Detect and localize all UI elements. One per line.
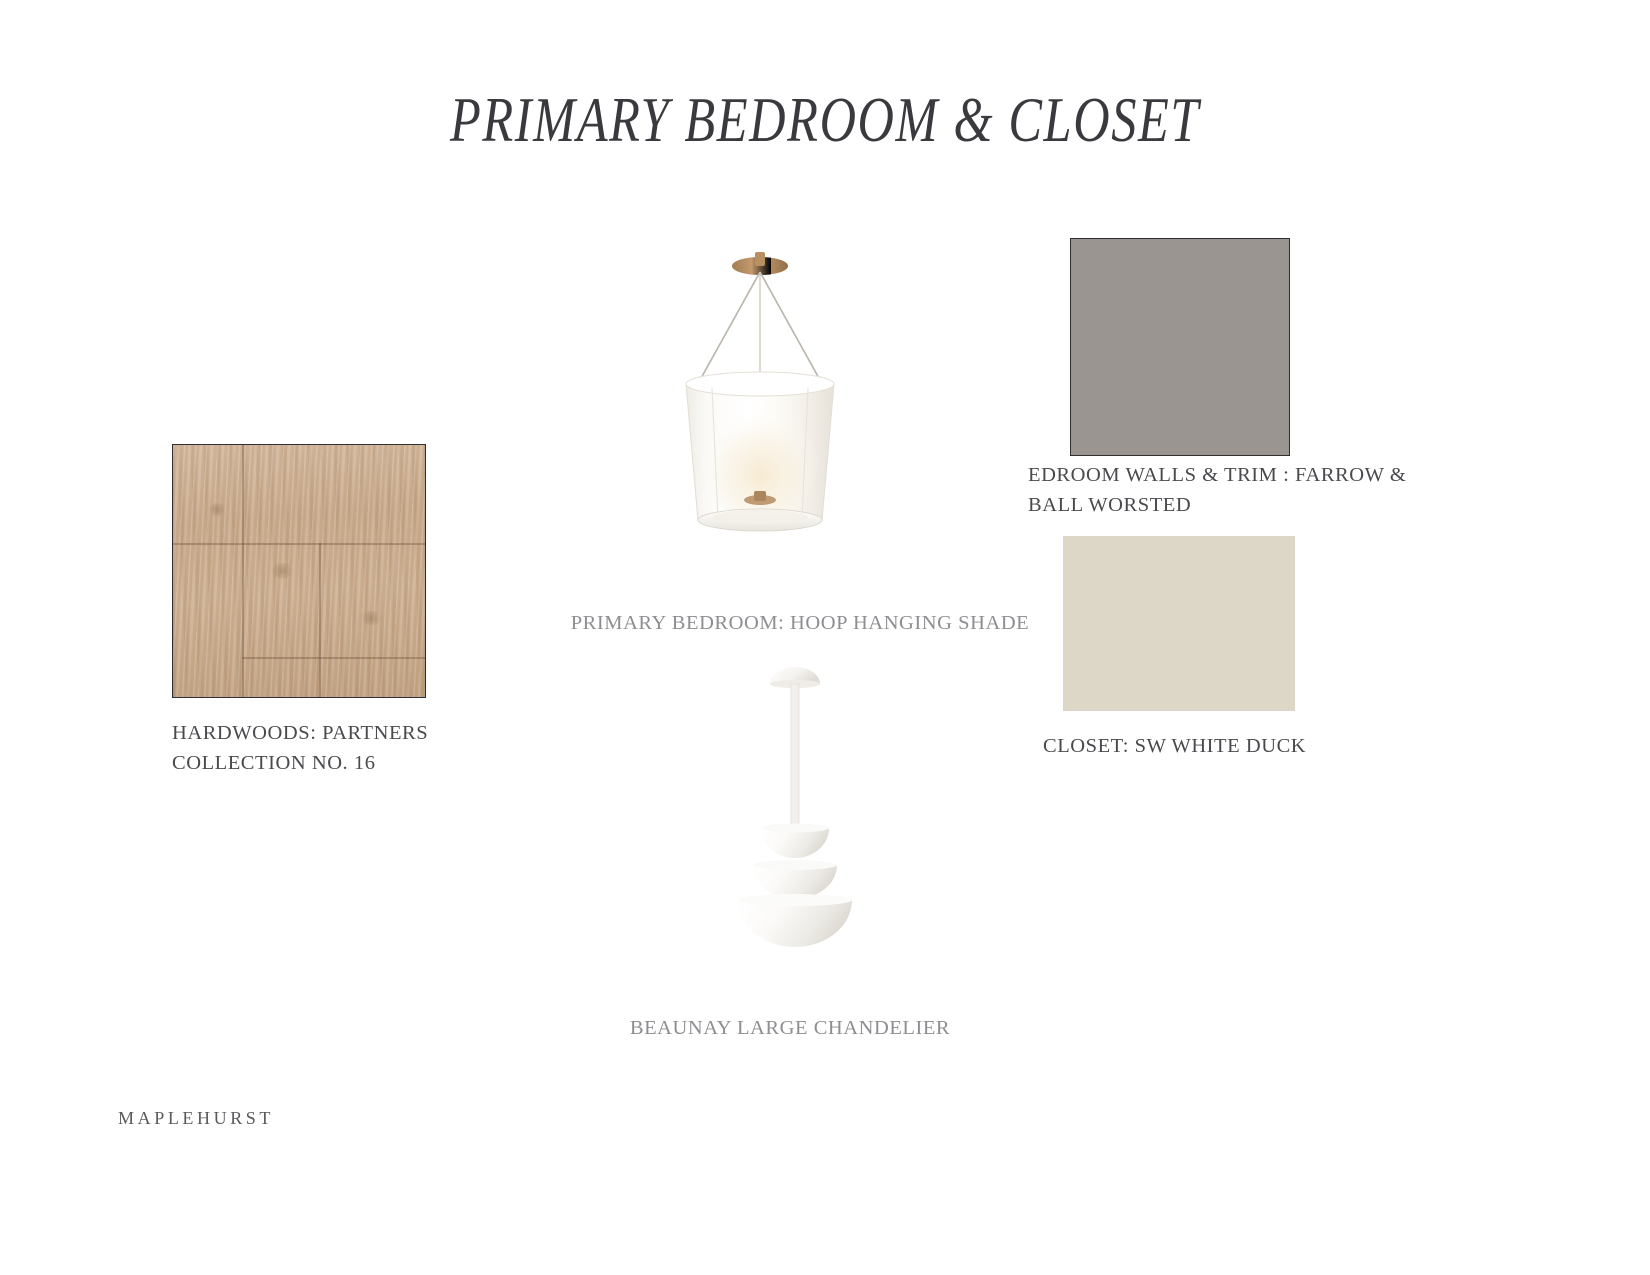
hardwood-caption: HARDWOODS: PARTNERS COLLECTION NO. 16 xyxy=(172,718,472,778)
walls-paint-swatch[interactable] xyxy=(1070,238,1290,456)
page-title: PRIMARY BEDROOM & CLOSET xyxy=(165,84,1485,157)
plank-seam xyxy=(242,657,425,659)
hardwood-swatch[interactable] xyxy=(172,444,426,698)
closet-paint-caption: CLOSET: SW WHITE DUCK xyxy=(1043,731,1343,761)
plank-seam xyxy=(173,543,425,545)
hoop-hanging-shade-fixture[interactable] xyxy=(640,248,960,548)
hardwood-grain-texture xyxy=(173,445,425,697)
plank-seam xyxy=(242,445,244,697)
hoop-shade-caption: PRIMARY BEDROOM: HOOP HANGING SHADE xyxy=(520,608,1080,638)
wood-knot xyxy=(207,503,227,516)
walls-paint-caption: EDROOM WALLS & TRIM : FARROW & BALL WORS… xyxy=(1028,460,1408,520)
wood-knot xyxy=(359,611,383,625)
beaunay-chandelier-fixture[interactable] xyxy=(660,660,930,970)
plank-seam xyxy=(319,543,321,698)
beaunay-chandelier-icon xyxy=(660,660,930,970)
closet-paint-swatch[interactable] xyxy=(1063,536,1295,711)
beaunay-caption: BEAUNAY LARGE CHANDELIER xyxy=(570,1013,1010,1043)
wood-knot xyxy=(269,563,295,579)
hoop-hanging-shade-icon xyxy=(640,248,960,548)
brand-wordmark: MAPLEHURST xyxy=(118,1108,274,1129)
